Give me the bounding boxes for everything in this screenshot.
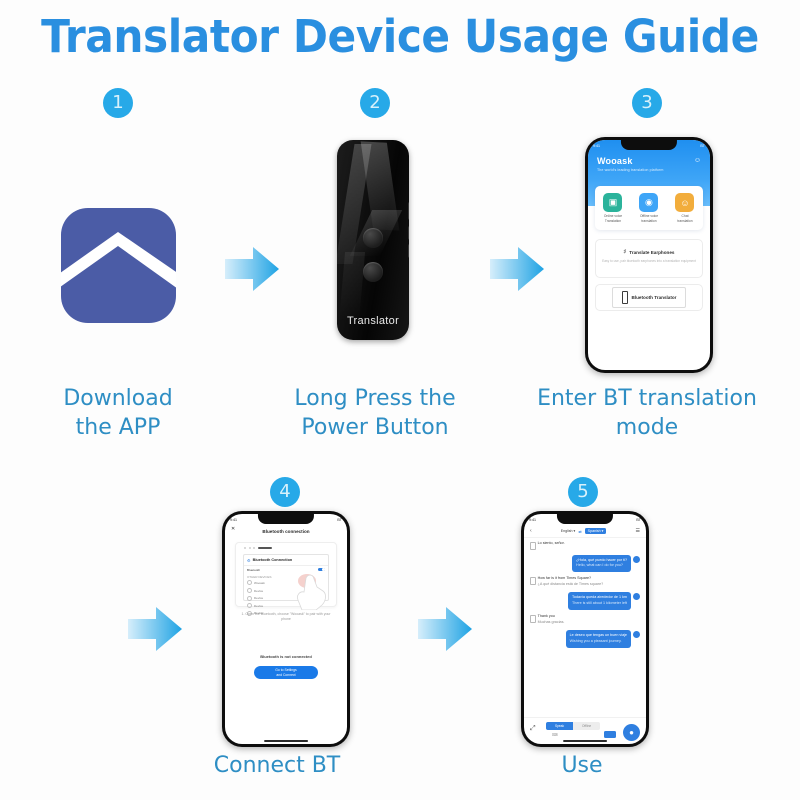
language-selector: English▾ ⇄ Spanish▾ <box>535 528 633 534</box>
close-icon[interactable]: ✕ <box>231 526 235 532</box>
arrow-step4-to-step5 <box>418 605 474 653</box>
device-name: Device <box>254 596 263 600</box>
message-bubble: Le deseo que tengas un buen viaje Wishin… <box>566 630 631 647</box>
device-side-button-1[interactable] <box>408 202 409 220</box>
phone-step5: 9:41 BT ‹ English▾ ⇄ Spanish▾ ☰ Lo sient… <box>521 511 649 747</box>
step-3-caption: Enter BT translation mode <box>532 385 762 442</box>
menu-icon[interactable]: ☰ <box>636 528 640 534</box>
message-translation: ¿A qué distancia está de Times square? <box>538 582 604 588</box>
message-translation: Muchas gracias. <box>538 620 565 626</box>
source-language-label: English <box>561 529 573 533</box>
globe-icon: ◉ <box>639 193 658 212</box>
earphones-title-row: ♯ Translate Earphones <box>596 249 702 255</box>
home-indicator <box>563 740 607 742</box>
chat-toolbar: ‹ English▾ ⇄ Spanish▾ ☰ <box>524 525 646 538</box>
app-name: Wooask <box>597 156 633 166</box>
mode-segmented-control[interactable]: Speak Offline <box>546 722 600 730</box>
chat-message: Thank you Muchas gracias. <box>530 614 640 625</box>
expand-icon[interactable]: ⤢ <box>530 725 536 733</box>
message-text-group: Thank you Muchas gracias. <box>538 614 565 625</box>
speaker-icon[interactable] <box>530 615 536 623</box>
translate-earphones-card[interactable]: ♯ Translate Earphones Easy to use, pair … <box>595 239 703 278</box>
panel-header: ⚙ Bluetooth Connection <box>244 555 328 566</box>
status-time: 9:41 <box>529 518 536 522</box>
step-5-caption: Use <box>482 752 682 781</box>
chat-message: How far is it from Times Square? ¿A qué … <box>530 576 640 587</box>
bluetooth-translator-card[interactable]: Bluetooth Translator <box>595 284 703 311</box>
status-time: 9:41 <box>593 144 600 148</box>
device-name: Device <box>254 604 263 608</box>
device-label: Translator <box>337 315 409 327</box>
message-primary: Lo siento, señor. <box>538 541 565 547</box>
phone-step3: 9:41 BT Wooask The world's leading trans… <box>585 137 713 373</box>
phone-screen-step3: 9:41 BT Wooask The world's leading trans… <box>588 140 710 370</box>
bt-status-text: Bluetooth is not connected <box>225 654 347 659</box>
step-1-caption-line1: Download <box>18 385 218 414</box>
phone-notch <box>258 514 314 524</box>
bluetooth-illustration-card: ⚙ Bluetooth Connection Bluetooth OTHER D… <box>235 542 337 607</box>
status-icons: BT <box>337 518 342 522</box>
chat-message: Todavía queda alrededor de 1 km There is… <box>530 592 640 609</box>
tile-label: Chattranslation <box>668 214 702 222</box>
bluetooth-translator-button[interactable]: Bluetooth Translator <box>612 287 687 308</box>
message-bubble: Todavía queda alrededor de 1 km There is… <box>568 592 631 609</box>
segment-offline[interactable]: Offline <box>573 722 600 730</box>
go-to-settings-button[interactable]: Go to Settings and Connect <box>254 666 318 679</box>
dot-icon <box>244 547 246 549</box>
usage-guide-page: Translator Device Usage Guide 1 Download… <box>0 0 800 800</box>
step-1-caption-line2: the APP <box>18 414 218 443</box>
message-bubble: ¿Hola, qué puedo hacer por ti? Hello, wh… <box>572 555 631 572</box>
check-icon <box>247 596 252 601</box>
step-3-caption-line2: mode <box>532 414 762 443</box>
device-name: Wooask <box>254 581 265 585</box>
bt-instruction-text: 1. Open the Bluetooth, choose "Wooask" t… <box>237 612 335 623</box>
avatar <box>633 556 640 563</box>
device-name: Device <box>254 589 263 593</box>
step-3-caption-line1: Enter BT translation <box>532 385 762 414</box>
home-indicator <box>264 740 308 742</box>
swap-icon[interactable]: ⇄ <box>578 529 581 534</box>
device-side-button-2[interactable] <box>408 226 409 240</box>
illustration-toolbar <box>244 547 272 549</box>
phone-notch <box>621 140 677 150</box>
address-bar <box>258 547 272 549</box>
arrow-step2-to-step3 <box>490 245 546 293</box>
earphones-title: Translate Earphones <box>629 250 674 255</box>
tile-label: Offline voicetranslation <box>632 214 666 222</box>
app-tagline: The world's leading translation platform <box>597 168 663 172</box>
speaker-icon[interactable] <box>530 577 536 585</box>
tile-label: Online voiceTranslation <box>596 214 630 222</box>
translator-device[interactable]: Translator <box>337 140 409 340</box>
check-icon <box>247 580 252 585</box>
phone-screen-step5: 9:41 BT ‹ English▾ ⇄ Spanish▾ ☰ Lo sient… <box>524 514 646 744</box>
message-text-group: How far is it from Times Square? ¿A qué … <box>538 576 604 587</box>
arrow-step3-to-step4 <box>128 605 184 653</box>
status-icons: BT <box>700 144 705 148</box>
wooask-app-icon[interactable] <box>61 208 176 323</box>
mic-icon[interactable]: ● <box>623 724 640 741</box>
arrow-step1-to-step2 <box>225 245 281 293</box>
step-5-caption-line1: Use <box>482 752 682 781</box>
message-text-group: Lo siento, señor. <box>538 541 565 547</box>
dot-icon <box>249 547 251 549</box>
message-translation: Hello, what can I do for you? <box>576 563 627 569</box>
bluetooth-row-label: Bluetooth <box>247 568 260 572</box>
avatar <box>633 631 640 638</box>
function-button[interactable] <box>363 262 383 282</box>
tile-offline-voice-translation[interactable]: ◉ Offline voicetranslation <box>634 193 664 222</box>
feature-tiles-card: ▣ Online voiceTranslation ◉ Offline voic… <box>595 186 703 230</box>
chat-message: ¿Hola, qué puedo hacer por ti? Hello, wh… <box>530 555 640 572</box>
speaker-icon[interactable] <box>530 542 536 550</box>
step-badge-2: 2 <box>360 88 390 118</box>
source-language-dropdown[interactable]: English▾ <box>561 529 576 533</box>
step-2-caption-line2: Power Button <box>275 414 475 443</box>
tile-online-voice-translation[interactable]: ▣ Online voiceTranslation <box>598 193 628 222</box>
bluetooth-translator-label: Bluetooth Translator <box>632 295 677 300</box>
message-translation: Wishing you a pleasant journey. <box>570 639 627 645</box>
avatar <box>633 593 640 600</box>
phone-screen-step4: 9:41 BT ✕ Bluetooth connection ⚙ Bluetoo <box>225 514 347 744</box>
step-2-caption: Long Press the Power Button <box>275 385 475 442</box>
panel-title: Bluetooth Connection <box>253 558 293 562</box>
power-button[interactable] <box>363 228 383 248</box>
keyboard-icon[interactable]: ⌨ <box>552 732 558 737</box>
dot-icon <box>253 547 255 549</box>
target-language-dropdown[interactable]: Spanish▾ <box>585 528 607 534</box>
device-icon <box>622 291 628 304</box>
chat-message: Le deseo que tengas un buen viaje Wishin… <box>530 630 640 647</box>
tile-chat-translation[interactable]: ☺ Chattranslation <box>670 193 700 222</box>
step-1-caption: Download the APP <box>18 385 218 442</box>
check-icon <box>247 588 252 593</box>
status-icons: BT <box>636 518 641 522</box>
status-time: 9:41 <box>230 518 237 522</box>
step-4-caption: Connect BT <box>177 752 377 781</box>
step-4-caption-line1: Connect BT <box>177 752 377 781</box>
earphones-icon: ♯ <box>624 249 627 255</box>
earphones-desc: Easy to use, pair bluetooth earphones in… <box>596 259 702 263</box>
step-badge-1: 1 <box>103 88 133 118</box>
hand-pointer-icon <box>296 570 330 610</box>
bluetooth-icon: ⚙ <box>247 558 251 563</box>
message-translation: There is still about 1 kilometer left <box>572 601 627 607</box>
step-badge-5: 5 <box>568 477 598 507</box>
phone-notch <box>557 514 613 524</box>
translate-icon: ▣ <box>603 193 622 212</box>
target-language-label: Spanish <box>588 529 601 533</box>
step-badge-4: 4 <box>270 477 300 507</box>
check-icon <box>247 603 252 608</box>
send-button[interactable] <box>604 731 616 738</box>
button-line-2: and Connect <box>276 673 295 677</box>
bt-screen-header: ✕ Bluetooth connection <box>225 525 347 537</box>
person-icon[interactable]: ☺ <box>694 157 701 164</box>
step-2-caption-line1: Long Press the <box>275 385 475 414</box>
chat-message: Lo siento, señor. <box>530 541 640 550</box>
page-title: Translator Device Usage Guide <box>24 10 776 63</box>
device-side-button-3[interactable] <box>408 244 409 258</box>
back-chevron-icon[interactable]: ‹ <box>530 528 532 534</box>
chat-icon: ☺ <box>675 193 694 212</box>
phone-step4: 9:41 BT ✕ Bluetooth connection ⚙ Bluetoo <box>222 511 350 747</box>
segment-speak[interactable]: Speak <box>546 722 573 730</box>
step-badge-3: 3 <box>632 88 662 118</box>
bt-screen-title: Bluetooth connection <box>262 529 309 534</box>
chat-message-list[interactable]: Lo siento, señor. ¿Hola, qué puedo hacer… <box>524 539 646 718</box>
